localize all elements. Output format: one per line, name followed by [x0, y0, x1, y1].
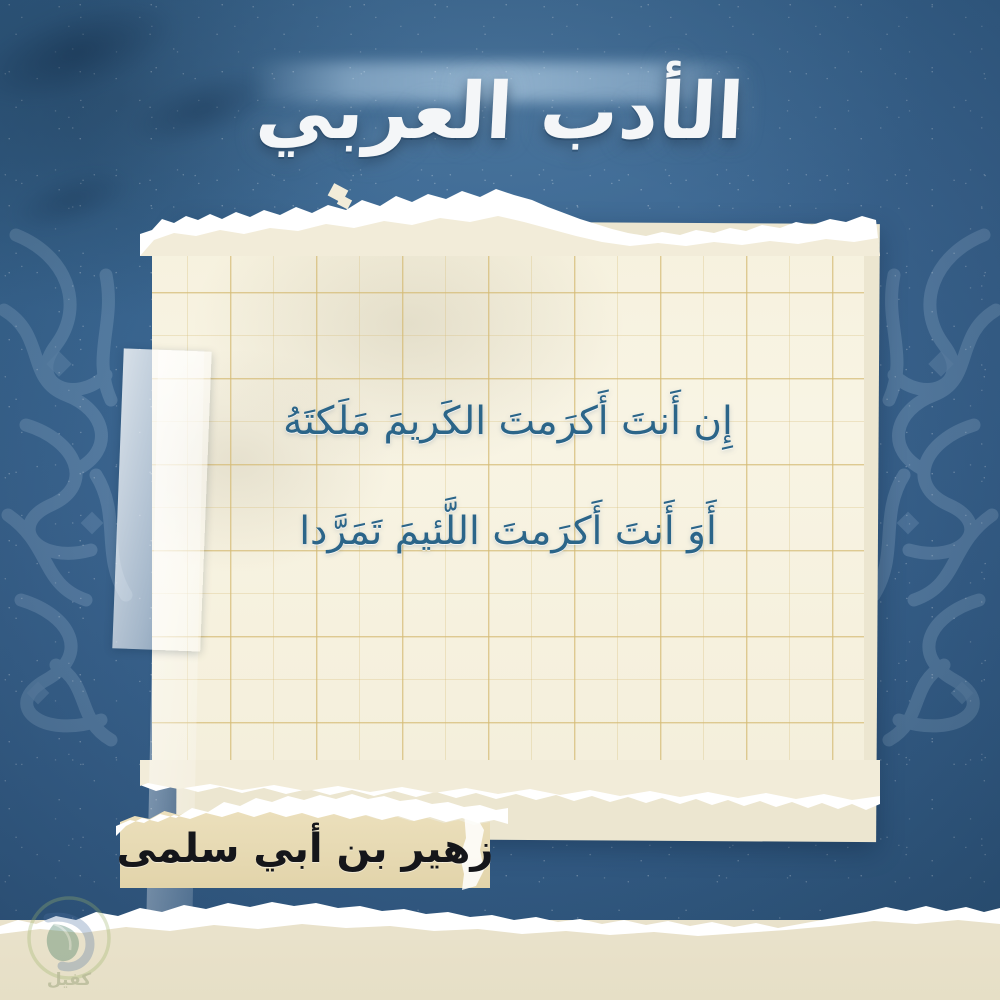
bottom-paper-band [0, 920, 1000, 1000]
header: الأدب العربي [0, 42, 1000, 182]
poet-name: زهير بن أبي سلمى [120, 812, 490, 886]
watermark-brand-text: كفيل [14, 970, 124, 990]
page-title: الأدب العربي [254, 73, 746, 151]
poem-block: إِن أَنتَ أَكرَمتَ الكَريمَ مَلَكتَهُ أَ… [152, 400, 864, 555]
poem-line-2: أَوَ أَنتَ أَكرَمتَ اللَّئيمَ تَمَرَّدا [152, 510, 864, 555]
poem-line-1: إِن أَنتَ أَكرَمتَ الكَريمَ مَلَكتَهُ [152, 400, 864, 445]
watermark-logo: كفيل [14, 892, 124, 996]
poster-canvas: الأدب العربي إِن أَنتَ أَكرَمتَ الكَريمَ… [0, 0, 1000, 1000]
